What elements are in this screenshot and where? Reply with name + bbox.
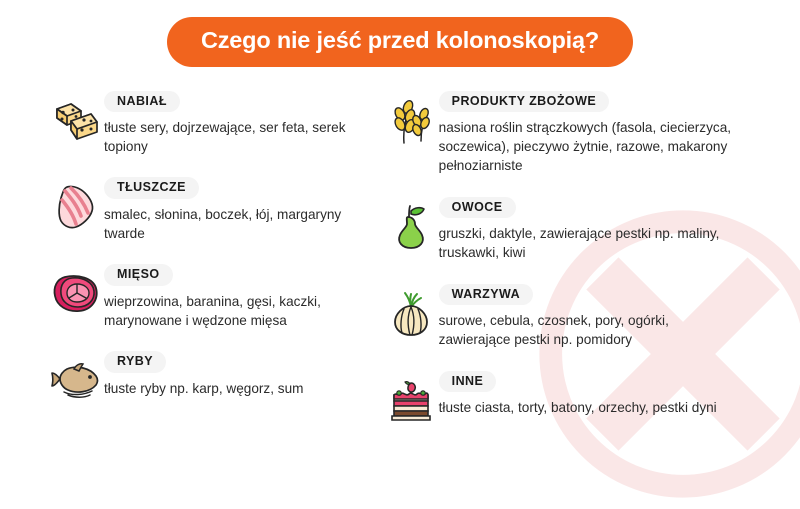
category-label: OWOCE: [439, 197, 516, 218]
list-item-owoce: OWOCE gruszki, daktyle, zawierające pest…: [383, 195, 786, 263]
category-description: surowe, cebula, czosnek, pory, ogórki, z…: [439, 311, 739, 350]
cake-icon: [383, 375, 439, 427]
list-item-nabial: NABIAŁ tłuste sery, dojrzewające, ser fe…: [48, 89, 383, 157]
list-item-mieso: MIĘSO wieprzowina, baranina, gęsi, kaczk…: [48, 262, 383, 330]
list-item-body: RYBY tłuste ryby np. karp, węgorz, sum: [104, 349, 303, 398]
meat-steak-icon: [48, 268, 104, 320]
list-item-body: WARZYWA surowe, cebula, czosnek, pory, o…: [439, 282, 739, 350]
category-label: WARZYWA: [439, 284, 533, 305]
onion-icon: [383, 288, 439, 340]
category-label: MIĘSO: [104, 264, 173, 285]
category-label: INNE: [439, 371, 497, 392]
category-description: gruszki, daktyle, zawierające pestki np.…: [439, 224, 739, 263]
list-item-body: NABIAŁ tłuste sery, dojrzewające, ser fe…: [104, 89, 383, 157]
list-item-warzywa: WARZYWA surowe, cebula, czosnek, pory, o…: [383, 282, 786, 350]
category-description: tłuste sery, dojrzewające, ser feta, ser…: [104, 118, 383, 157]
category-description: smalec, słonina, boczek, łój, margaryny …: [104, 205, 383, 244]
list-item-body: PRODUKTY ZBOŻOWE nasiona roślin strączko…: [439, 89, 739, 176]
page-title: Czego nie jeść przed kolonoskopią?: [167, 17, 633, 67]
category-description: tłuste ciasta, torty, batony, orzechy, p…: [439, 398, 717, 417]
category-description: tłuste ryby np. karp, węgorz, sum: [104, 379, 303, 398]
list-item-body: TŁUSZCZE smalec, słonina, boczek, łój, m…: [104, 175, 383, 243]
list-item-tluszcze: TŁUSZCZE smalec, słonina, boczek, łój, m…: [48, 175, 383, 243]
left-column: NABIAŁ tłuste sery, dojrzewające, ser fe…: [14, 89, 383, 448]
list-item-inne: INNE tłuste ciasta, torty, batony, orzec…: [383, 369, 786, 429]
pear-icon: [383, 201, 439, 253]
category-label: TŁUSZCZE: [104, 177, 199, 198]
right-column: PRODUKTY ZBOŻOWE nasiona roślin strączko…: [383, 89, 786, 448]
wheat-icon: [383, 95, 439, 147]
category-description: wieprzowina, baranina, gęsi, kaczki, mar…: [104, 292, 383, 331]
category-label: NABIAŁ: [104, 91, 180, 112]
header: Czego nie jeść przed kolonoskopią?: [0, 0, 800, 67]
cheese-icon: [48, 95, 104, 147]
content-columns: NABIAŁ tłuste sery, dojrzewające, ser fe…: [0, 67, 800, 448]
category-label: PRODUKTY ZBOŻOWE: [439, 91, 609, 112]
category-label: RYBY: [104, 351, 166, 372]
bacon-icon: [48, 181, 104, 233]
list-item-ryby: RYBY tłuste ryby np. karp, węgorz, sum: [48, 349, 383, 409]
list-item-body: INNE tłuste ciasta, torty, batony, orzec…: [439, 369, 717, 418]
list-item-produkty-zbozowe: PRODUKTY ZBOŻOWE nasiona roślin strączko…: [383, 89, 786, 176]
list-item-body: MIĘSO wieprzowina, baranina, gęsi, kaczk…: [104, 262, 383, 330]
list-item-body: OWOCE gruszki, daktyle, zawierające pest…: [439, 195, 739, 263]
fish-icon: [48, 355, 104, 407]
category-description: nasiona roślin strączkowych (fasola, cie…: [439, 118, 739, 176]
